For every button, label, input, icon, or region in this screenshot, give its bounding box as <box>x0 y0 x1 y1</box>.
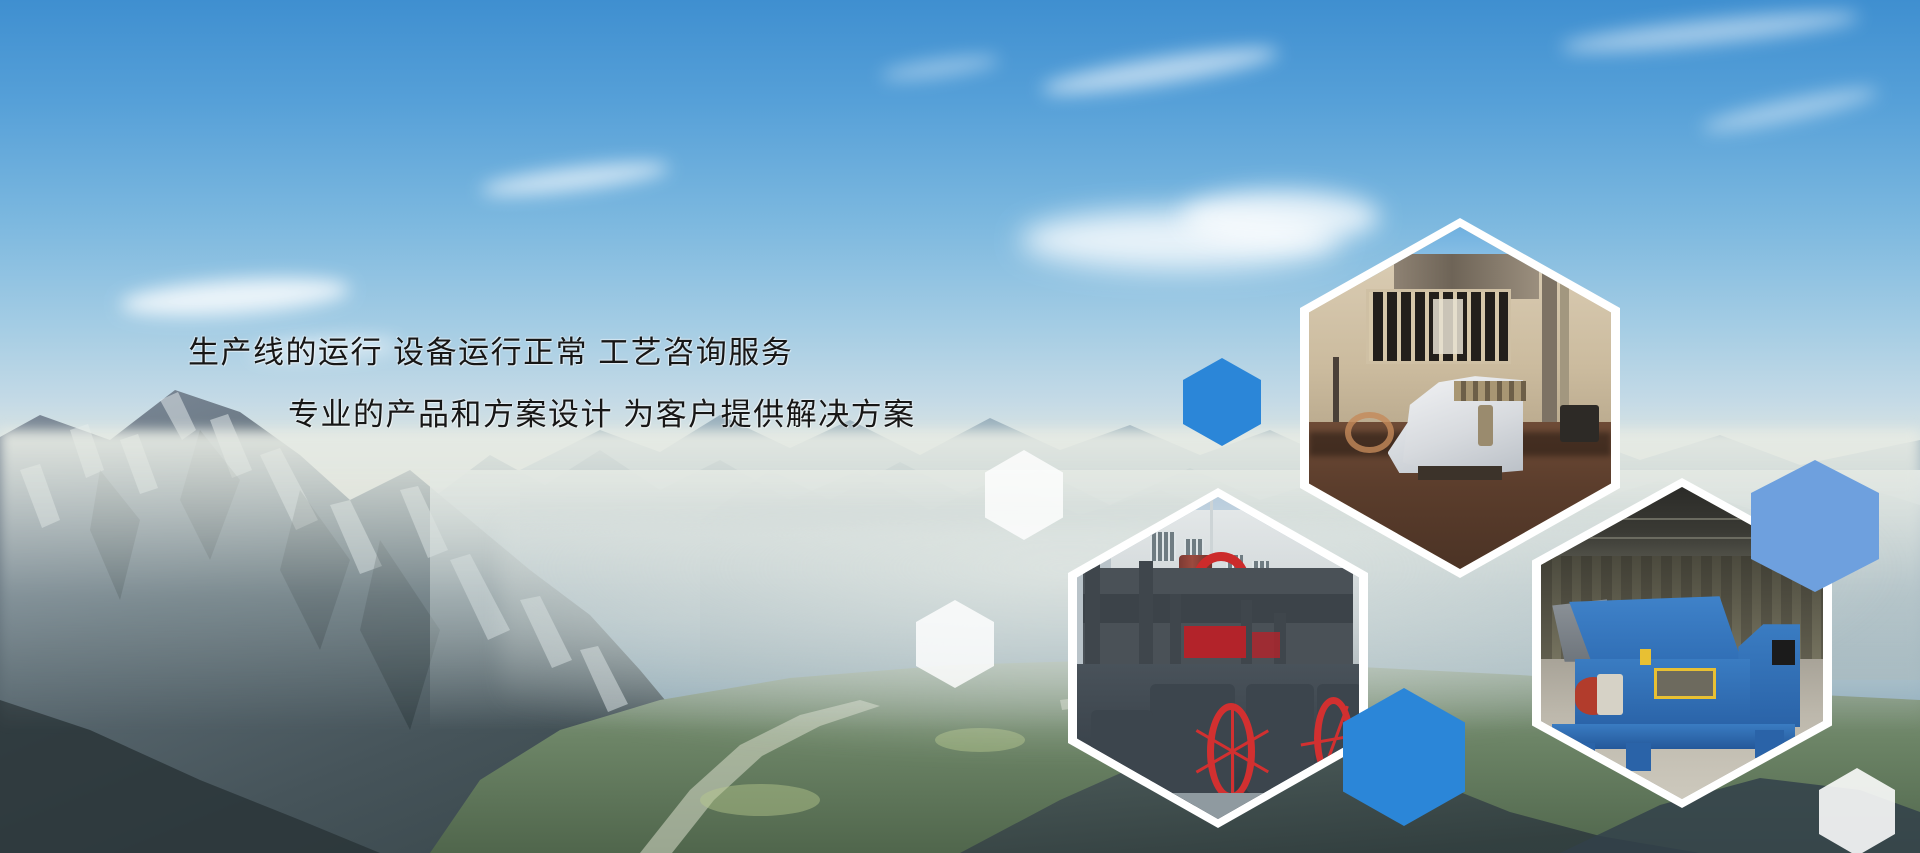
headline-line-2: 专业的产品和方案设计 为客户提供解决方案 <box>188 384 1008 446</box>
headline-line-1: 生产线的运行 设备运行正常 工艺咨询服务 <box>188 322 1008 384</box>
banner-headline: 生产线的运行 设备运行正常 工艺咨询服务 专业的产品和方案设计 为客户提供解决方… <box>188 322 1008 446</box>
cloud-puff <box>1180 190 1380 244</box>
hero-banner: 生产线的运行 设备运行正常 工艺咨询服务 专业的产品和方案设计 为客户提供解决方… <box>0 0 1920 853</box>
